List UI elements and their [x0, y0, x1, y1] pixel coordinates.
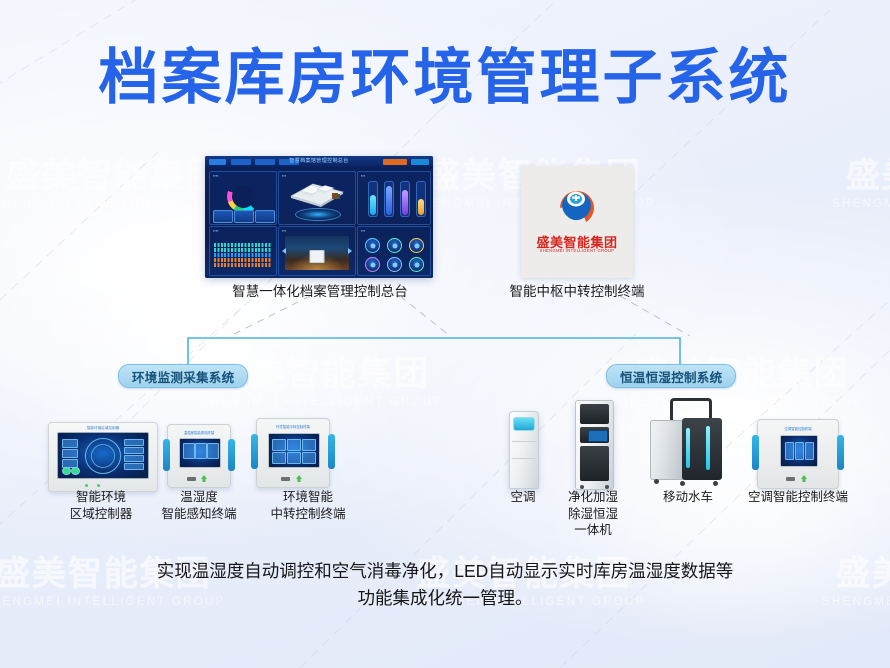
model-podium — [295, 208, 341, 221]
device-th-sensor-image: 温湿度智能感知终端 — [167, 424, 231, 488]
device-screen-caption: 智能环境区域控制器 — [49, 426, 157, 431]
caption-line: 智能感知终端 — [143, 506, 255, 523]
side-accent — [328, 434, 335, 469]
screen-tile — [302, 452, 316, 464]
footer-description: 实现温湿度自动调控和空气消毒净化，LED自动显示实时库房温湿度数据等 功能集成化… — [60, 558, 830, 612]
screen-tile — [207, 443, 219, 459]
level-bar — [368, 181, 378, 217]
gauge-button[interactable] — [234, 210, 254, 223]
logo-company-en: SHENGMEI INTELLIGENT GROUP — [521, 248, 633, 253]
caption-line: 一体机 — [552, 522, 634, 539]
device-area-controller-image: 智能环境区域控制器 — [48, 422, 158, 492]
caption-line: 空调 — [490, 489, 556, 506]
device-caption-air-conditioner: 空调 — [490, 489, 556, 506]
level-bars-panel: ▪▪▪ — [357, 171, 431, 225]
panel-header: ▪▪▪ — [282, 228, 286, 233]
device-screen[interactable] — [268, 433, 320, 468]
screen-tile — [124, 447, 144, 454]
screen-tile — [805, 442, 814, 460]
side-accent — [163, 439, 170, 471]
status-led — [85, 484, 88, 487]
function-icon-4[interactable] — [365, 257, 380, 272]
hub-terminal-image: 盛美智能集团 SHENGMEI INTELLIGENT GROUP — [521, 166, 633, 278]
device-screen[interactable] — [57, 432, 149, 479]
toggle-switch[interactable] — [187, 477, 196, 481]
device-env-relay-image: 环境智能中转控制终端 — [256, 418, 330, 488]
caption-line: 环境智能 — [252, 489, 364, 506]
cart-wheel — [654, 479, 659, 484]
purifier-filter-door — [580, 446, 609, 481]
panel-header: ▪▪▪▪ — [213, 228, 219, 233]
device-caption-ac-terminal: 空调智能控制终端 — [733, 489, 863, 506]
screen-ui — [781, 436, 817, 466]
model-panel: ▪▪▪ — [278, 171, 356, 225]
cart-wheel — [713, 481, 718, 486]
level-bar — [384, 181, 394, 217]
footer-line-1: 实现温湿度自动调控和空气消毒净化，LED自动显示实时库房温湿度数据等 — [60, 558, 830, 585]
dashboard-body: ▪▪▪▪ ▪▪▪ — [205, 167, 433, 278]
device-screen[interactable] — [179, 438, 221, 468]
screen-tile — [124, 439, 144, 446]
panel-header: ▪▪▪ — [361, 173, 365, 178]
side-accent — [752, 435, 759, 470]
side-accent — [251, 434, 258, 469]
prev-arrow-icon[interactable] — [282, 248, 286, 254]
power-indicator-icon — [201, 475, 207, 482]
caption-line: 净化加湿 — [552, 489, 634, 506]
screen-ui — [180, 439, 220, 467]
screen-tile — [124, 455, 144, 462]
ac-seam — [512, 458, 536, 459]
level-bar — [416, 181, 426, 217]
device-caption-env-relay: 环境智能 中转控制终端 — [252, 489, 364, 522]
function-icons-panel: ▪▪▪ — [357, 226, 431, 276]
group-label-monitor[interactable]: 环境监测采集系统 — [118, 364, 248, 388]
group-label-hvac[interactable]: 恒温恒湿控制系统 — [606, 364, 736, 388]
screen-tile — [287, 452, 301, 464]
ac-seam — [512, 441, 536, 442]
console-dashboard-image: 智慧档案馆管理控制总台 ▪▪▪▪ ▪▪▪ — [205, 156, 433, 278]
scene-archive-box — [310, 250, 325, 263]
stacked-bar-chart — [214, 243, 272, 269]
status-led — [97, 484, 100, 487]
screen-tile — [124, 463, 144, 470]
screen-tile — [795, 442, 804, 460]
function-icon-5[interactable] — [387, 257, 402, 272]
device-water-cart-image — [648, 398, 726, 488]
function-icon-6[interactable] — [409, 257, 424, 272]
caption-line: 空调智能控制终端 — [733, 489, 863, 506]
status-dot — [62, 467, 71, 475]
dashboard-screen-title: 智慧档案馆管理控制总台 — [205, 157, 433, 164]
function-icon-1[interactable] — [365, 238, 380, 253]
uv-lamp — [706, 426, 710, 470]
cart-wheel — [680, 481, 685, 486]
device-screen-caption: 空调智能控制终端 — [758, 426, 838, 431]
ac-vent — [513, 417, 534, 431]
toggle-switch[interactable] — [281, 477, 290, 481]
device-ac-terminal-image: 空调智能控制终端 — [757, 419, 839, 489]
screen-tile — [272, 439, 286, 451]
side-accent — [228, 439, 235, 471]
hud-ring-inner — [91, 444, 115, 468]
purifier-top-panel — [580, 404, 609, 424]
device-screen-caption: 温湿度智能感知终端 — [168, 430, 230, 435]
screen-tile — [785, 442, 794, 460]
screen-ui — [269, 434, 319, 467]
screen-tile — [287, 439, 301, 451]
device-caption-water-cart: 移动水车 — [645, 489, 731, 506]
device-caption-purifier: 净化加湿 除湿恒湿 一体机 — [552, 489, 634, 539]
shengmei-logo-icon — [554, 186, 600, 226]
building-3d-model — [287, 180, 347, 208]
screen-tile — [183, 443, 195, 459]
gauge-button[interactable] — [255, 210, 275, 223]
power-indicator-icon — [801, 475, 807, 482]
screen-tile — [62, 439, 78, 448]
caption-line: 除湿恒湿 — [552, 506, 634, 523]
screen-tile — [195, 443, 207, 459]
status-dot — [71, 467, 80, 475]
gauge-inner-ring — [235, 188, 252, 205]
device-screen-caption: 环境智能中转控制终端 — [257, 424, 329, 429]
toggle-switch[interactable] — [786, 477, 795, 481]
caption-line: 移动水车 — [645, 489, 731, 506]
function-icon-3[interactable] — [409, 238, 424, 253]
footer-line-2: 功能集成化统一管理。 — [60, 585, 830, 612]
caption-line: 温湿度 — [143, 489, 255, 506]
screen-tile — [302, 439, 316, 451]
gauge-dial — [227, 180, 260, 213]
cart-body-left — [650, 420, 686, 480]
device-purifier-image — [575, 400, 614, 490]
screen-tile — [272, 452, 286, 464]
next-arrow-icon[interactable] — [348, 248, 352, 254]
purifier-display[interactable] — [588, 430, 608, 442]
panel-header: ▪▪▪ — [282, 173, 286, 178]
trend-panel: ▪▪▪▪ — [209, 226, 277, 276]
gauge-panel: ▪▪▪▪ — [209, 171, 277, 225]
device-caption-th-sensor: 温湿度 智能感知终端 — [143, 489, 255, 522]
uv-lamp — [686, 428, 690, 468]
panel-header: ▪▪▪ — [361, 228, 365, 233]
level-bar — [400, 181, 410, 217]
caption-line: 中转控制终端 — [252, 506, 364, 523]
device-screen[interactable] — [780, 435, 818, 467]
power-indicator-icon — [296, 475, 302, 482]
device-air-conditioner-image — [509, 411, 539, 489]
function-icon-2[interactable] — [387, 238, 402, 253]
screen-tile — [62, 449, 78, 458]
night-scene-image — [285, 236, 349, 270]
page-title: 档案库房环境管理子系统 — [0, 48, 890, 108]
video-panel: ▪▪▪ — [278, 226, 356, 276]
screen-ui — [58, 433, 148, 478]
gauge-button[interactable] — [213, 210, 233, 223]
panel-header: ▪▪▪▪ — [213, 173, 219, 178]
side-accent — [837, 435, 844, 470]
